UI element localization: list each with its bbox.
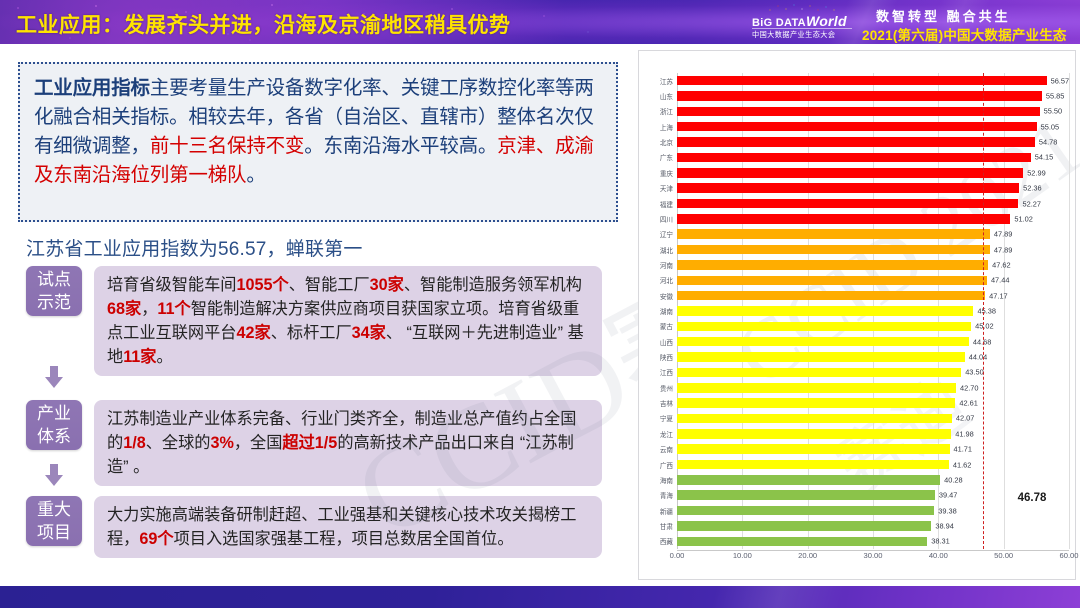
chart-bar-row[interactable]: 甘肃38.94 — [677, 521, 1069, 531]
chart-category-label: 江苏 — [660, 76, 673, 86]
chart-bar-row[interactable]: 贵州42.70 — [677, 383, 1069, 393]
chart-bar[interactable] — [677, 414, 952, 424]
flow-text-seg: 42家 — [237, 324, 271, 342]
chart-value-label: 43.50 — [965, 368, 984, 377]
flow-text-seg: 、全球的 — [146, 434, 211, 452]
chart-value-label: 55.05 — [1041, 122, 1060, 131]
flow-text-seg: 超过1/5 — [282, 434, 337, 452]
chart-bar-row[interactable]: 河北47.44 — [677, 276, 1069, 286]
chart-bar-row[interactable]: 西藏38.31 — [677, 537, 1069, 547]
chart-value-label: 42.61 — [959, 399, 978, 408]
logo-wordmark: BiG DATAWorld — [752, 13, 852, 29]
chart-bar[interactable] — [677, 153, 1031, 163]
chart-value-label: 41.71 — [954, 445, 973, 454]
chart-category-label: 宁夏 — [660, 413, 673, 423]
chart-bar[interactable] — [677, 537, 927, 547]
flow-text-seg: 11个 — [157, 300, 190, 318]
chart-bar[interactable] — [677, 260, 988, 270]
flow-textbox-3: 大力实施高端装备研制赶超、工业强基和关键核心技术攻关揭榜工程，69个项目入选国家… — [94, 496, 602, 558]
chart-value-label: 42.07 — [956, 414, 975, 423]
chart-bar-row[interactable]: 吉林42.61 — [677, 398, 1069, 408]
flow-text-seg: 。 — [157, 348, 173, 366]
chart-category-label: 甘肃 — [660, 521, 673, 531]
chart-category-label: 天津 — [660, 183, 673, 193]
chart-bar-row[interactable]: 江苏56.57 — [677, 76, 1069, 86]
flow-badge-2[interactable]: 产业体系 — [26, 400, 82, 450]
jiangsu-subheading: 江苏省工业应用指数为56.57，蝉联第一 — [26, 234, 363, 261]
chart-category-label: 四川 — [660, 214, 673, 224]
chart-category-label: 浙江 — [660, 106, 673, 116]
chart-bar-row[interactable]: 蒙古45.02 — [677, 322, 1069, 332]
chart-value-label: 52.36 — [1023, 184, 1042, 193]
chart-bar-row[interactable]: 陕西44.04 — [677, 352, 1069, 362]
chart-bar[interactable] — [677, 245, 990, 255]
chart-x-tick: 20.00 — [798, 551, 817, 560]
flow-arrow-down-icon-2 — [45, 464, 63, 486]
chart-plot-area: 江苏56.57山东55.85浙江55.50上海55.05北京54.78广东54.… — [677, 73, 1069, 549]
chart-bar-row[interactable]: 山东55.85 — [677, 91, 1069, 101]
flow-textbox-1: 培育省级智能车间1055个、智能工厂30家、智能制造服务领军机构68家，11个智… — [94, 266, 602, 376]
conference-slogan-line1: 数智转型 融合共生 — [876, 6, 1011, 25]
slide-header: 工业应用：发展齐头并进，沿海及京渝地区稍具优势 BiG DATAWorld 中国… — [0, 0, 1080, 44]
chart-category-label: 蒙古 — [660, 321, 673, 331]
flow-text-seg: 1055个 — [237, 276, 289, 294]
callout-body-2: 。东南沿海水平较高。 — [304, 135, 497, 157]
chart-value-label: 51.02 — [1014, 214, 1033, 223]
flow-text-seg: 11家 — [123, 348, 156, 366]
flow-text-seg: 项目入选国家强基工程，项目总数居全国首位。 — [174, 530, 514, 548]
chart-x-tick: 0.00 — [670, 551, 685, 560]
chart-x-axis: 0.0010.0020.0030.0040.0050.0060.00 — [677, 551, 1069, 569]
chart-bar-row[interactable]: 辽宁47.89 — [677, 229, 1069, 239]
flow-badge-1[interactable]: 试点示范 — [26, 266, 82, 316]
chart-bar[interactable] — [677, 460, 949, 470]
chart-value-label: 38.31 — [931, 537, 950, 546]
chart-value-label: 45.38 — [977, 306, 996, 315]
gridline-60.00 — [1069, 73, 1070, 549]
chart-value-label: 52.27 — [1022, 199, 1041, 208]
chart-bar[interactable] — [677, 490, 935, 500]
chart-bar[interactable] — [677, 137, 1035, 147]
flow-row-3: 重大项目大力实施高端装备研制赶超、工业强基和关键核心技术攻关揭榜工程，69个项目… — [26, 496, 612, 558]
summary-callout-text: 工业应用指标主要考量生产设备数字化率、关键工序数控化率等两化融合相关指标。相较去… — [34, 74, 604, 190]
chart-bar-row[interactable]: 广东54.15 — [677, 153, 1069, 163]
flow-text-seg: 培育省级智能车间 — [107, 276, 237, 294]
chart-x-tick: 10.00 — [733, 551, 752, 560]
chart-category-label: 福建 — [660, 199, 673, 209]
chart-bar-row[interactable]: 天津52.36 — [677, 183, 1069, 193]
chart-bar-row[interactable]: 上海55.05 — [677, 122, 1069, 132]
flow-badge-line1: 重大 — [26, 498, 82, 521]
chart-bar[interactable] — [677, 91, 1042, 101]
chart-x-tick: 60.00 — [1059, 551, 1078, 560]
chart-x-tick: 50.00 — [994, 551, 1013, 560]
slide-footer — [0, 586, 1080, 608]
callout-lead-bold: 工业应用指标 — [34, 77, 150, 99]
chart-bar[interactable] — [677, 444, 950, 454]
flow-text-seg: 、标杆工厂 — [271, 324, 352, 342]
chart-category-label: 河南 — [660, 260, 673, 270]
flow-badge-line2: 项目 — [26, 521, 82, 544]
chart-category-label: 海南 — [660, 475, 673, 485]
bigdata-world-logo: BiG DATAWorld 中国大数据产业生态大会 — [752, 3, 852, 41]
chart-category-label: 山东 — [660, 91, 673, 101]
chart-bar[interactable] — [677, 398, 955, 408]
summary-callout-box: 工业应用指标主要考量生产设备数字化率、关键工序数控化率等两化融合相关指标。相较去… — [18, 62, 618, 222]
callout-highlight-1: 前十三名保持不变 — [150, 135, 304, 157]
chart-category-label: 陕西 — [660, 352, 673, 362]
chart-bar-row[interactable]: 云南41.71 — [677, 444, 1069, 454]
chart-bar-row[interactable]: 重庆52.99 — [677, 168, 1069, 178]
chart-bar[interactable] — [677, 168, 1023, 178]
chart-value-label: 55.50 — [1044, 107, 1063, 116]
chart-value-label: 56.57 — [1051, 76, 1070, 85]
chart-reference-label: 46.78 — [1018, 492, 1047, 504]
flow-badge-line2: 示范 — [26, 291, 82, 314]
chart-bar[interactable] — [677, 214, 1010, 224]
province-index-chart: CCID 2021 赛迪 江苏56.57山东55.85浙江55.50上海55.0… — [638, 50, 1076, 580]
chart-bar[interactable] — [677, 475, 940, 485]
chart-bar-row[interactable]: 青海39.47 — [677, 490, 1069, 500]
chart-category-label: 重庆 — [660, 168, 673, 178]
chart-bar[interactable] — [677, 276, 987, 286]
chart-bar-row[interactable]: 安徽47.17 — [677, 291, 1069, 301]
chart-bar[interactable] — [677, 383, 956, 393]
chart-category-label: 云南 — [660, 444, 673, 454]
chart-bar[interactable] — [677, 107, 1040, 117]
chart-category-label: 江西 — [660, 367, 673, 377]
chart-category-label: 山西 — [660, 337, 673, 347]
chart-value-label: 45.02 — [975, 322, 994, 331]
chart-category-label: 广西 — [660, 460, 673, 470]
chart-category-label: 西藏 — [660, 536, 673, 546]
flow-text-seg: 68家 — [107, 300, 141, 318]
chart-bar[interactable] — [677, 521, 931, 531]
chart-bar[interactable] — [677, 291, 985, 301]
flow-badge-line1: 产业 — [26, 402, 82, 425]
flow-row-2: 产业体系江苏制造业产业体系完备、行业门类齐全，制造业总产值约占全国的1/8、全球… — [26, 400, 612, 486]
chart-bar[interactable] — [677, 199, 1018, 209]
chart-bar-row[interactable]: 湖南45.38 — [677, 306, 1069, 316]
flow-badge-3[interactable]: 重大项目 — [26, 496, 82, 546]
chart-x-tick: 40.00 — [929, 551, 948, 560]
chart-category-label: 辽宁 — [660, 229, 673, 239]
logo-world-text: World — [806, 13, 847, 29]
chart-bar-row[interactable]: 山西44.68 — [677, 337, 1069, 347]
flow-text-seg: 34家 — [352, 324, 386, 342]
chart-bar-row[interactable]: 浙江55.50 — [677, 107, 1069, 117]
chart-value-label: 47.44 — [991, 276, 1010, 285]
flow-text-seg: 1/8 — [123, 434, 146, 452]
chart-bar-row[interactable]: 四川51.02 — [677, 214, 1069, 224]
chart-bar[interactable] — [677, 76, 1047, 86]
chart-bar-row[interactable]: 福建52.27 — [677, 199, 1069, 209]
chart-value-label: 47.62 — [992, 260, 1011, 269]
chart-value-label: 52.99 — [1027, 168, 1046, 177]
chart-bar-row[interactable]: 湖北47.89 — [677, 245, 1069, 255]
chart-category-label: 湖南 — [660, 306, 673, 316]
flow-text-seg: ，全国 — [234, 434, 283, 452]
chart-x-tick: 30.00 — [863, 551, 882, 560]
flow-text-seg: 30家 — [370, 276, 404, 294]
chart-bar[interactable] — [677, 306, 973, 316]
left-content-panel: 工业应用指标主要考量生产设备数字化率、关键工序数控化率等两化融合相关指标。相较去… — [0, 44, 636, 586]
chart-category-label: 新疆 — [660, 506, 673, 516]
chart-category-label: 安徽 — [660, 291, 673, 301]
chart-value-label: 39.47 — [939, 491, 958, 500]
logo-subtitle: 中国大数据产业生态大会 — [752, 28, 852, 40]
chart-value-label: 42.70 — [960, 383, 979, 392]
chart-value-label: 54.78 — [1039, 138, 1058, 147]
flow-badge-line1: 试点 — [26, 268, 82, 291]
page-title: 工业应用：发展齐头并进，沿海及京渝地区稍具优势 — [16, 9, 511, 39]
chart-bar-row[interactable]: 广西41.62 — [677, 460, 1069, 470]
flow-text-seg: 、智能工厂 — [289, 276, 370, 294]
chart-bar-row[interactable]: 海南40.28 — [677, 475, 1069, 485]
chart-bar[interactable] — [677, 229, 990, 239]
chart-bar-row[interactable]: 宁夏42.07 — [677, 414, 1069, 424]
flow-row-1: 试点示范培育省级智能车间1055个、智能工厂30家、智能制造服务领军机构68家，… — [26, 266, 612, 376]
chart-bar-row[interactable]: 北京54.78 — [677, 137, 1069, 147]
chart-value-label: 54.15 — [1035, 153, 1054, 162]
flow-text-seg: 、智能制造服务领军机构 — [404, 276, 582, 294]
chart-bars: 江苏56.57山东55.85浙江55.50上海55.05北京54.78广东54.… — [677, 73, 1069, 549]
chart-value-label: 55.85 — [1046, 92, 1065, 101]
chart-value-label: 47.17 — [989, 291, 1008, 300]
chart-bar[interactable] — [677, 337, 969, 347]
chart-category-label: 北京 — [660, 137, 673, 147]
conference-slogan-line2: 2021(第六届)中国大数据产业生态大会 — [862, 24, 1080, 44]
callout-body-3: 。 — [246, 164, 265, 186]
chart-bar[interactable] — [677, 429, 951, 439]
chart-reference-line — [983, 73, 984, 549]
chart-value-label: 41.98 — [955, 429, 974, 438]
chart-bar[interactable] — [677, 506, 934, 516]
chart-category-label: 贵州 — [660, 383, 673, 393]
chart-bar[interactable] — [677, 368, 961, 378]
flow-arrow-down-icon-1 — [45, 366, 63, 388]
chart-category-label: 湖北 — [660, 245, 673, 255]
chart-bar[interactable] — [677, 352, 965, 362]
flow-text-seg: ， — [141, 300, 157, 318]
flow-text-seg: 3% — [210, 434, 233, 452]
chart-category-label: 龙江 — [660, 429, 673, 439]
chart-value-label: 41.62 — [953, 460, 972, 469]
chart-bar-row[interactable]: 新疆39.38 — [677, 506, 1069, 516]
chart-value-label: 38.94 — [935, 521, 954, 530]
chart-category-label: 上海 — [660, 122, 673, 132]
chart-value-label: 40.28 — [944, 475, 963, 484]
chart-category-label: 青海 — [660, 490, 673, 500]
slide-root: 工业应用：发展齐头并进，沿海及京渝地区稍具优势 BiG DATAWorld 中国… — [0, 0, 1080, 608]
chart-bar[interactable] — [677, 183, 1019, 193]
flow-textbox-2: 江苏制造业产业体系完备、行业门类齐全，制造业总产值约占全国的1/8、全球的3%，… — [94, 400, 602, 486]
chart-category-label: 吉林 — [660, 398, 673, 408]
chart-bar-row[interactable]: 河南47.62 — [677, 260, 1069, 270]
chart-value-label: 39.38 — [938, 506, 957, 515]
flow-badge-line2: 体系 — [26, 425, 82, 448]
chart-bar-row[interactable]: 江西43.50 — [677, 368, 1069, 378]
chart-value-label: 47.89 — [994, 245, 1013, 254]
chart-category-label: 河北 — [660, 275, 673, 285]
chart-bar[interactable] — [677, 322, 971, 332]
flow-text-seg: 69个 — [139, 530, 173, 548]
chart-category-label: 广东 — [660, 152, 673, 162]
chart-value-label: 47.89 — [994, 230, 1013, 239]
chart-value-label: 44.04 — [969, 353, 988, 362]
chart-bar-row[interactable]: 龙江41.98 — [677, 429, 1069, 439]
